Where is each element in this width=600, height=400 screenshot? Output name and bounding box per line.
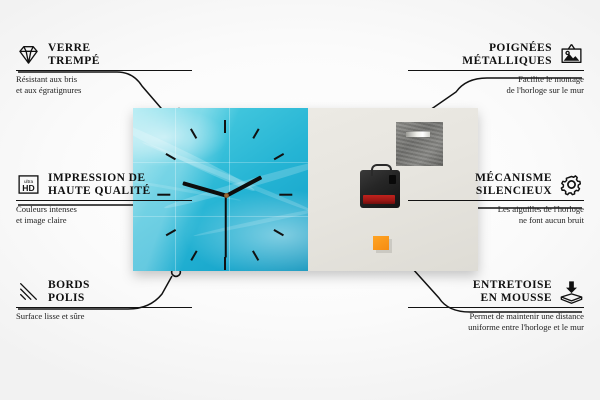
- feature-title: BORDS POLIS: [48, 279, 90, 304]
- bracket-slot: [406, 131, 430, 137]
- feature-title: ENTRETOISE EN MOUSSE: [473, 279, 552, 304]
- clock-tick: [252, 128, 259, 138]
- feature-title: VERRE TREMPÉ: [48, 42, 100, 67]
- foam-spacer: [373, 236, 389, 250]
- feature-rule: [16, 307, 192, 308]
- feature-description: Résistant aux bris et aux égratignures: [16, 74, 192, 95]
- clock-tick: [190, 250, 197, 260]
- foam-spacer-arrow-icon: [559, 279, 584, 304]
- picture-frame-hanger-icon: [559, 42, 584, 67]
- feature-verre-trempe: VERRE TREMPÉ Résistant aux bris et aux é…: [16, 42, 192, 95]
- feature-mecanisme-silencieux: MÉCANISME SILENCIEUX Les aiguilles de l'…: [408, 172, 584, 225]
- metal-hanger-bracket: [396, 122, 443, 166]
- feature-bords-polis: BORDS POLIS Surface lisse et sûre: [16, 279, 192, 322]
- clock-tick: [274, 153, 284, 160]
- feature-title: POIGNÉES MÉTALLIQUES: [462, 42, 552, 67]
- clock-tick: [224, 120, 226, 133]
- battery: [363, 195, 395, 204]
- feature-description: Facilite le montage de l'horloge sur le …: [408, 74, 584, 95]
- feature-description: Surface lisse et sûre: [16, 311, 192, 321]
- feature-rule: [408, 70, 584, 71]
- clock-movement: [360, 170, 400, 208]
- polished-edge-icon: [16, 279, 41, 304]
- clock-tick: [224, 257, 226, 270]
- infographic-canvas: VERRE TREMPÉ Résistant aux bris et aux é…: [0, 0, 600, 400]
- gear-icon: [559, 172, 584, 197]
- feature-rule: [16, 200, 192, 201]
- clock-center-pivot: [224, 193, 229, 198]
- clock-tick: [190, 128, 197, 138]
- feature-description: Couleurs intenses et image claire: [16, 204, 192, 225]
- feature-title: MÉCANISME SILENCIEUX: [475, 172, 552, 197]
- feature-entretoise-en-mousse: ENTRETOISE EN MOUSSE Permet de maintenir…: [408, 279, 584, 332]
- feature-poignees-metalliques: POIGNÉES MÉTALLIQUES Facilite le montage…: [408, 42, 584, 95]
- ultra-hd-icon: ultra HD: [16, 172, 41, 197]
- clock-second-hand: [225, 196, 227, 258]
- feature-rule: [408, 307, 584, 308]
- feature-description: Permet de maintenir une distance uniform…: [408, 311, 584, 332]
- feature-title: IMPRESSION DE HAUTE QUALITÉ: [48, 172, 151, 197]
- svg-text:HD: HD: [22, 183, 34, 193]
- clock-tick: [274, 229, 284, 236]
- diamond-icon: [16, 42, 41, 67]
- movement-knob: [389, 175, 396, 184]
- feature-rule: [408, 200, 584, 201]
- feature-impression-haute-qualite: ultra HD IMPRESSION DE HAUTE QUALITÉ Cou…: [16, 172, 192, 225]
- clock-tick: [279, 194, 292, 196]
- feature-description: Les aiguilles de l'horloge ne font aucun…: [408, 204, 584, 225]
- clock-tick: [252, 250, 259, 260]
- feature-rule: [16, 70, 192, 71]
